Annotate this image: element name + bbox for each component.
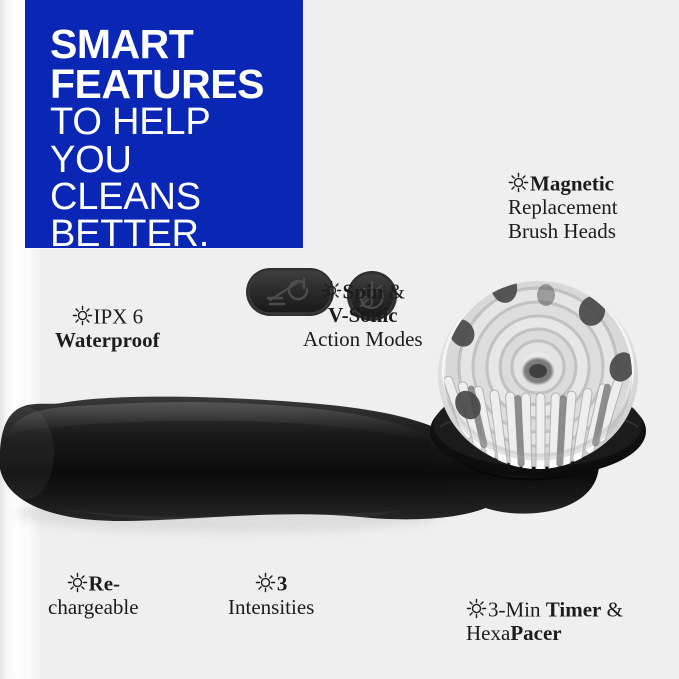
sun-icon (72, 305, 93, 326)
pacer-prefix: Hexa (466, 621, 510, 645)
headline-line-5: BETTER. (50, 216, 291, 253)
timer-duration: 3-Min (488, 597, 546, 621)
feature-label-intensities: 3 Intensities (228, 572, 314, 620)
headline-line-4: CLEANS (50, 179, 291, 216)
headline-line-1: SMART (50, 24, 291, 64)
feature-label-magnetic: Magnetic Replacement Brush Heads (508, 172, 618, 244)
magnetic-bold: Magnetic (530, 171, 614, 195)
intensities-line-2: Intensities (228, 596, 314, 620)
feature-label-timer: 3-Min Timer & HexaPacer (466, 598, 623, 646)
modes-vsonic: V-Sonic (303, 304, 423, 328)
sun-icon (321, 280, 342, 301)
modes-ampersand: & (383, 279, 405, 303)
intensities-count: 3 (277, 571, 288, 595)
magnetic-line-3: Brush Heads (508, 220, 618, 244)
headline-text-block: SMART FEATURES TO HELP YOU CLEANS BETTER… (50, 24, 291, 253)
timer-ampersand: & (601, 597, 623, 621)
headline-line-2: FEATURES (50, 64, 291, 104)
magnetic-line-1: Magnetic (508, 172, 618, 196)
timer-bold: Timer (546, 597, 602, 621)
timer-line-2: HexaPacer (466, 622, 623, 646)
intensities-line-1: 3 (228, 572, 314, 596)
rechargeable-line-1: Re- (48, 572, 139, 596)
modes-line-3: Action Modes (303, 328, 423, 352)
rechargeable-bold: Re- (89, 571, 120, 595)
headline-line-3: TO HELP YOU (50, 104, 291, 178)
sun-icon (67, 572, 88, 593)
waterproof-line-1: IPX 6 (55, 305, 160, 329)
waterproof-rating: IPX 6 (94, 304, 144, 328)
sun-icon (508, 172, 529, 193)
headline-banner: SMART FEATURES TO HELP YOU CLEANS BETTER… (25, 0, 303, 248)
feature-label-action-modes: Spin & V-Sonic Action Modes (303, 280, 423, 352)
feature-label-rechargeable: Re- chargeable (48, 572, 139, 620)
waterproof-line-2: Waterproof (55, 329, 160, 353)
magnetic-line-2: Replacement (508, 196, 618, 220)
sun-icon (466, 598, 487, 619)
product-feature-graphic: SMART FEATURES TO HELP YOU CLEANS BETTER… (0, 0, 679, 679)
sun-icon (255, 572, 276, 593)
rechargeable-line-2: chargeable (48, 596, 139, 620)
modes-line-1: Spin & (303, 280, 423, 304)
pacer-bold: Pacer (510, 621, 561, 645)
timer-line-1: 3-Min Timer & (466, 598, 623, 622)
feature-label-waterproof: IPX 6 Waterproof (55, 305, 160, 353)
modes-spin: Spin (343, 279, 384, 303)
